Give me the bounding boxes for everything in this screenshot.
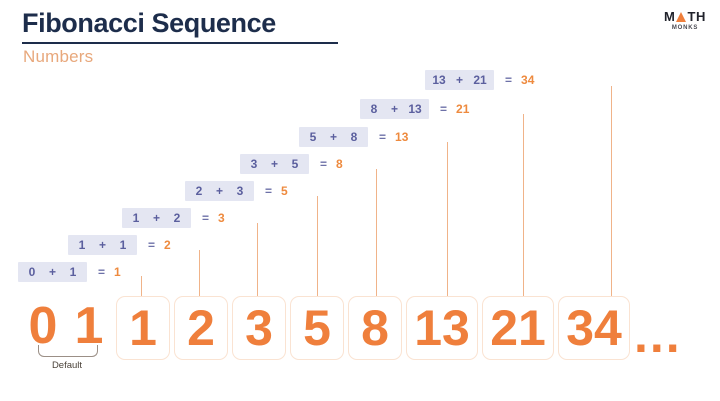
equation-row: 5+8=13 [299, 127, 408, 147]
logo-letter-m: M [664, 10, 675, 23]
logo-wordmark: M TH [664, 10, 706, 23]
operand-b: 3 [233, 184, 247, 198]
sequence-ellipsis: ... [634, 310, 682, 360]
equation-row: 1+2=3 [122, 208, 225, 228]
operand-b: 1 [116, 238, 130, 252]
equation-row: 1+1=2 [68, 235, 171, 255]
plus-icon: + [216, 184, 223, 198]
sequence-number: 34 [558, 296, 630, 360]
sequence-number: 8 [348, 296, 402, 360]
page-subtitle: Numbers [23, 47, 93, 67]
operand-b: 21 [473, 73, 487, 87]
equation-result: 5 [281, 184, 288, 198]
sequence-number: 21 [482, 296, 554, 360]
equation-result: 2 [164, 238, 171, 252]
equation-result: 1 [114, 265, 121, 279]
equation-result: 13 [395, 130, 408, 144]
fibonacci-infographic: Fibonacci Sequence Numbers M TH MONKS 0+… [0, 0, 720, 401]
equation-operands: 1+1 [68, 235, 137, 255]
sequence-number-row: 0112358132134... [0, 296, 720, 366]
result-connector-line [611, 86, 612, 298]
result-connector-line [199, 250, 200, 298]
equation-result: 3 [218, 211, 225, 225]
operand-a: 13 [432, 73, 446, 87]
operand-b: 5 [288, 157, 302, 171]
result-connector-line [257, 223, 258, 298]
sequence-number: 13 [406, 296, 478, 360]
operand-a: 2 [192, 184, 206, 198]
equals-icon: = [202, 211, 209, 225]
equation-row: 13+21=34 [425, 70, 534, 90]
sequence-number: 5 [290, 296, 344, 360]
equation-row: 3+5=8 [240, 154, 343, 174]
equation-operands: 5+8 [299, 127, 368, 147]
equation-operands: 8+13 [360, 99, 429, 119]
equals-icon: = [265, 184, 272, 198]
equation-operands: 13+21 [425, 70, 494, 90]
equation-row: 0+1=1 [18, 262, 121, 282]
result-connector-line [447, 142, 448, 298]
operand-b: 13 [408, 102, 422, 116]
title-underline [22, 42, 338, 44]
equation-result: 34 [521, 73, 534, 87]
plus-icon: + [153, 211, 160, 225]
operand-a: 8 [367, 102, 381, 116]
equals-icon: = [505, 73, 512, 87]
mathmonks-logo: M TH MONKS [664, 10, 706, 31]
equation-row: 2+3=5 [185, 181, 288, 201]
operand-a: 5 [306, 130, 320, 144]
operand-a: 1 [129, 211, 143, 225]
default-bracket-label: Default [38, 360, 96, 371]
operand-b: 8 [347, 130, 361, 144]
operand-a: 3 [247, 157, 261, 171]
plus-icon: + [99, 238, 106, 252]
equation-operands: 2+3 [185, 181, 254, 201]
equals-icon: = [440, 102, 447, 116]
sequence-number: 1 [116, 296, 170, 360]
operand-b: 2 [170, 211, 184, 225]
sequence-number: 2 [174, 296, 228, 360]
plus-icon: + [49, 265, 56, 279]
default-bracket [38, 345, 98, 357]
equals-icon: = [379, 130, 386, 144]
equation-operands: 3+5 [240, 154, 309, 174]
equals-icon: = [148, 238, 155, 252]
triangle-icon [676, 12, 686, 22]
result-connector-line [317, 196, 318, 298]
equation-operands: 0+1 [18, 262, 87, 282]
page-title: Fibonacci Sequence [22, 8, 276, 39]
operand-b: 1 [66, 265, 80, 279]
logo-letters-th: TH [687, 10, 706, 23]
equals-icon: = [98, 265, 105, 279]
result-connector-line [523, 114, 524, 298]
plus-icon: + [456, 73, 463, 87]
sequence-number: 3 [232, 296, 286, 360]
equation-operands: 1+2 [122, 208, 191, 228]
equals-icon: = [320, 157, 327, 171]
plus-icon: + [391, 102, 398, 116]
equation-result: 21 [456, 102, 469, 116]
result-connector-line [376, 169, 377, 298]
plus-icon: + [271, 157, 278, 171]
equation-row: 8+13=21 [360, 99, 469, 119]
result-connector-line [141, 276, 142, 298]
logo-subtext: MONKS [664, 25, 706, 31]
operand-a: 0 [25, 265, 39, 279]
equation-result: 8 [336, 157, 343, 171]
operand-a: 1 [75, 238, 89, 252]
plus-icon: + [330, 130, 337, 144]
